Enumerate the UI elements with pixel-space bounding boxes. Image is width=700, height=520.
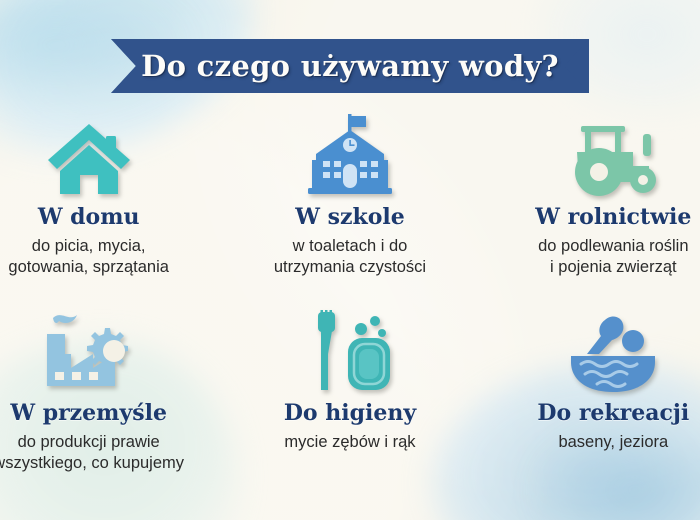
cell-title: W szkole	[295, 206, 405, 229]
cell-description: w toaletach i do utrzymania czystości	[274, 236, 426, 278]
desc-line-2: i pojenia zwierząt	[538, 257, 688, 278]
usage-cell-school: W szkole w toaletach i do utrzymania czy…	[233, 108, 466, 304]
cell-title: Do higieny	[284, 402, 416, 425]
cell-title: Do rekreacji	[537, 402, 689, 425]
desc-line-2: gotowania, sprzątania	[8, 257, 169, 278]
cell-description: mycie zębów i rąk	[284, 432, 415, 453]
banner: Do czego używamy wody?	[0, 38, 700, 94]
cell-title: W rolnictwie	[535, 206, 691, 229]
cell-description: do podlewania roślin i pojenia zwierząt	[538, 236, 688, 278]
desc-line-1: do picia, mycia,	[8, 236, 169, 257]
cell-description: do produkcji prawie wszystkiego, co kupu…	[0, 432, 184, 474]
desc-line-1: mycie zębów i rąk	[284, 432, 415, 453]
usage-cell-recreation: Do rekreacji baseny, jeziora	[497, 304, 700, 500]
toothbrush-soap-icon	[295, 310, 405, 394]
usage-cell-agriculture: W rolnictwie do podlewania roślin i poje…	[497, 108, 700, 304]
usage-cell-hygiene: Do higieny mycie zębów i rąk	[233, 304, 466, 500]
cell-description: baseny, jeziora	[558, 432, 668, 453]
ribbon-shape: Do czego używamy wody?	[111, 39, 589, 93]
usage-grid: W domu do picia, mycia, gotowania, sprzą…	[0, 108, 700, 500]
school-building-icon	[295, 114, 405, 198]
desc-line-1: do podlewania roślin	[538, 236, 688, 257]
desc-line-1: do produkcji prawie	[0, 432, 184, 453]
desc-line-1: baseny, jeziora	[558, 432, 668, 453]
cell-description: do picia, mycia, gotowania, sprzątania	[8, 236, 169, 278]
house-icon	[34, 114, 144, 198]
factory-icon	[34, 310, 144, 394]
cell-title: W domu	[38, 206, 140, 229]
usage-cell-home: W domu do picia, mycia, gotowania, sprzą…	[0, 108, 205, 304]
desc-line-1: w toaletach i do	[274, 236, 426, 257]
tractor-icon	[558, 114, 668, 198]
ribbon-inner: Do czego używamy wody?	[111, 39, 589, 93]
desc-line-2: utrzymania czystości	[274, 257, 426, 278]
usage-cell-industry: W przemyśle do produkcji prawie wszystki…	[0, 304, 205, 500]
cell-title: W przemyśle	[10, 402, 167, 425]
desc-line-2: wszystkiego, co kupujemy	[0, 453, 184, 474]
swimmer-icon	[558, 310, 668, 394]
page-title: Do czego używamy wody?	[141, 49, 559, 83]
